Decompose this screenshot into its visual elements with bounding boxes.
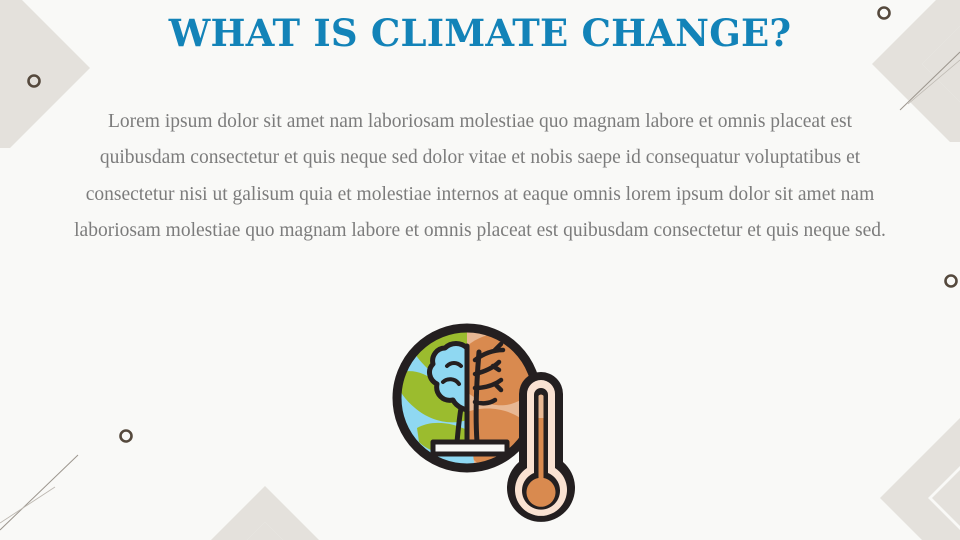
slide-body-paragraph: Lorem ipsum dolor sit amet nam laboriosa… bbox=[64, 104, 896, 249]
chevron-bottom-right-outer bbox=[880, 416, 960, 540]
climate-illustration bbox=[383, 316, 607, 538]
tree-planter-base bbox=[433, 442, 507, 454]
ring-dot-top-left bbox=[29, 76, 40, 87]
slide-title: WHAT IS CLIMATE CHANGE? bbox=[0, 13, 960, 54]
diagonal-line-top-right-a bbox=[900, 52, 960, 110]
diagonal-line-bottom-left-a bbox=[0, 455, 78, 530]
chevron-group-bottom-center bbox=[197, 486, 333, 540]
tree-trunk-right-edge bbox=[476, 352, 479, 442]
slide-canvas: WHAT IS CLIMATE CHANGE? Lorem ipsum dolo… bbox=[0, 0, 960, 540]
ring-dot-right bbox=[946, 276, 957, 287]
chevron-bottom-center-outer bbox=[197, 486, 333, 540]
chevron-bottom-center-inner bbox=[197, 522, 333, 540]
chevron-group-bottom-right bbox=[880, 416, 960, 540]
thermometer-column-cap bbox=[539, 395, 544, 418]
diagonal-line-top-right-b bbox=[908, 60, 960, 104]
chevron-bottom-right-inner bbox=[932, 416, 960, 540]
globe-thermometer-icon bbox=[383, 316, 607, 538]
ring-dot-bottom-left bbox=[121, 431, 132, 442]
diagonal-line-bottom-left-b bbox=[0, 487, 55, 523]
